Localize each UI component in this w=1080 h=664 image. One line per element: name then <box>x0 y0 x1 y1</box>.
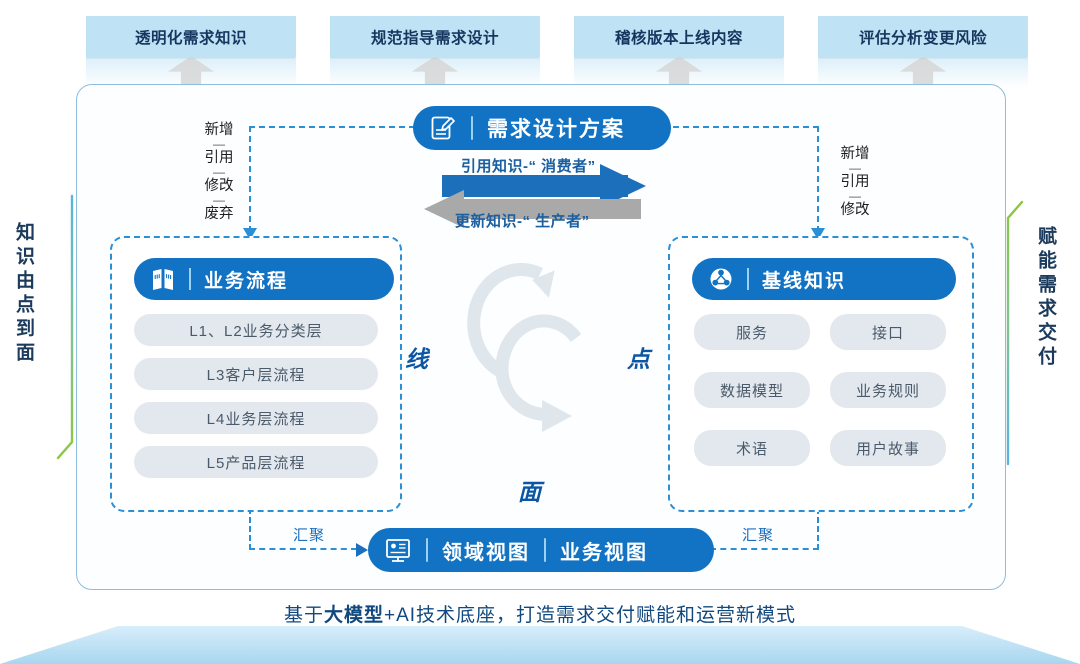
panel-business-process: 业务流程 L1、L2业务分类层 L3客户层流程 L4业务层流程 L5产品层流程 <box>110 236 402 512</box>
dashed-connector-right-h <box>653 126 819 128</box>
converge-label-right: 汇聚 <box>742 524 774 545</box>
dashed-converge-left-h <box>249 548 357 550</box>
bottom-trapezoid <box>0 626 1080 664</box>
header-pill-audit-release[interactable]: 稽核版本上线内容 <box>574 16 784 58</box>
cycle-label-surface: 面 <box>518 473 541 507</box>
domain-view-icon <box>384 537 412 563</box>
right-bracket-arrow <box>1002 196 1024 464</box>
knowledge-node-icon <box>708 266 734 292</box>
header-pill-design-guidance[interactable]: 规范指导需求设计 <box>330 16 540 58</box>
panel-baseline-title: 基线知识 <box>762 266 846 293</box>
dashed-converge-left-v <box>249 508 251 550</box>
header-pill-label: 规范指导需求设计 <box>371 26 499 48</box>
baseline-chip-interface[interactable]: 接口 <box>830 314 946 350</box>
pill-divider <box>747 268 749 290</box>
pill-divider <box>189 268 191 290</box>
right-side-label: 赋能需求交付 <box>1036 226 1055 370</box>
views-business-label: 业务视图 <box>560 536 648 565</box>
views-domain-label: 领域视图 <box>442 536 530 565</box>
process-chip-l4[interactable]: L4业务层流程 <box>134 402 378 434</box>
baseline-chip-term[interactable]: 术语 <box>694 430 810 466</box>
panel-process-title: 业务流程 <box>204 266 288 293</box>
header-pill-transparency[interactable]: 透明化需求知识 <box>86 16 296 58</box>
caption-suffix: +AI技术底座，打造需求交付赋能和运营新模式 <box>384 605 796 626</box>
left-bracket-arrow <box>56 196 78 464</box>
ribbon-consume-label: 引用知识-“ 消费者” <box>461 155 596 176</box>
cycle-arrows-icon <box>480 252 600 442</box>
cycle-label-line: 线 <box>405 340 428 374</box>
baseline-chip-bizrule[interactable]: 业务规则 <box>830 372 946 408</box>
ops-separator: — <box>196 139 242 150</box>
panel-process-header[interactable]: 业务流程 <box>134 258 394 300</box>
pill-divider <box>426 538 428 562</box>
ops-separator: — <box>196 167 242 178</box>
process-chip-l1l2[interactable]: L1、L2业务分类层 <box>134 314 378 346</box>
document-edit-icon <box>429 114 457 142</box>
cycle-label-point: 点 <box>627 340 650 374</box>
baseline-chip-service[interactable]: 服务 <box>694 314 810 350</box>
caption-prefix: 基于 <box>284 605 324 626</box>
header-pill-risk-analysis[interactable]: 评估分析变更风险 <box>818 16 1028 58</box>
baseline-chip-userstory[interactable]: 用户故事 <box>830 430 946 466</box>
dashed-connector-left-v <box>249 126 251 232</box>
ribbon-produce-label: 更新知识-“ 生产者” <box>455 210 590 231</box>
header-pill-label: 稽核版本上线内容 <box>615 26 743 48</box>
bottom-caption: 基于大模型+AI技术底座，打造需求交付赋能和运营新模式 <box>0 600 1080 627</box>
ops-separator: — <box>196 195 242 206</box>
diagram-canvas: 透明化需求知识 规范指导需求设计 稽核版本上线内容 评估分析变更风险 知识由点到… <box>0 0 1080 664</box>
ops-separator: — <box>832 191 878 202</box>
pill-divider <box>471 116 473 140</box>
views-pill[interactable]: 领域视图 业务视图 <box>368 528 714 572</box>
dashed-converge-right-h <box>710 548 819 550</box>
dashed-connector-right-v <box>817 126 819 232</box>
ops-list-left: 新增 — 引用 — 修改 — 废弃 <box>196 122 242 223</box>
scheme-title: 需求设计方案 <box>487 113 625 143</box>
caption-strong: 大模型 <box>324 605 384 626</box>
book-flow-icon <box>150 267 176 291</box>
pill-divider <box>544 538 546 562</box>
header-pill-label: 评估分析变更风险 <box>859 26 987 48</box>
baseline-chip-datamodel[interactable]: 数据模型 <box>694 372 810 408</box>
header-pill-label: 透明化需求知识 <box>135 26 247 48</box>
ops-list-right: 新增 — 引用 — 修改 <box>832 146 878 219</box>
dashed-converge-right-v <box>817 508 819 550</box>
left-side-label: 知识由点到面 <box>14 222 33 366</box>
process-chip-l5[interactable]: L5产品层流程 <box>134 446 378 478</box>
panel-baseline-knowledge: 基线知识 服务 接口 数据模型 业务规则 术语 用户故事 <box>668 236 974 512</box>
scheme-pill[interactable]: 需求设计方案 <box>413 106 671 150</box>
ops-item: 废弃 <box>196 206 242 223</box>
panel-baseline-header[interactable]: 基线知识 <box>692 258 956 300</box>
ops-separator: — <box>832 163 878 174</box>
converge-label-left: 汇聚 <box>293 524 325 545</box>
ops-item: 修改 <box>832 202 878 219</box>
dashed-connector-left-h <box>249 126 415 128</box>
process-chip-l3[interactable]: L3客户层流程 <box>134 358 378 390</box>
